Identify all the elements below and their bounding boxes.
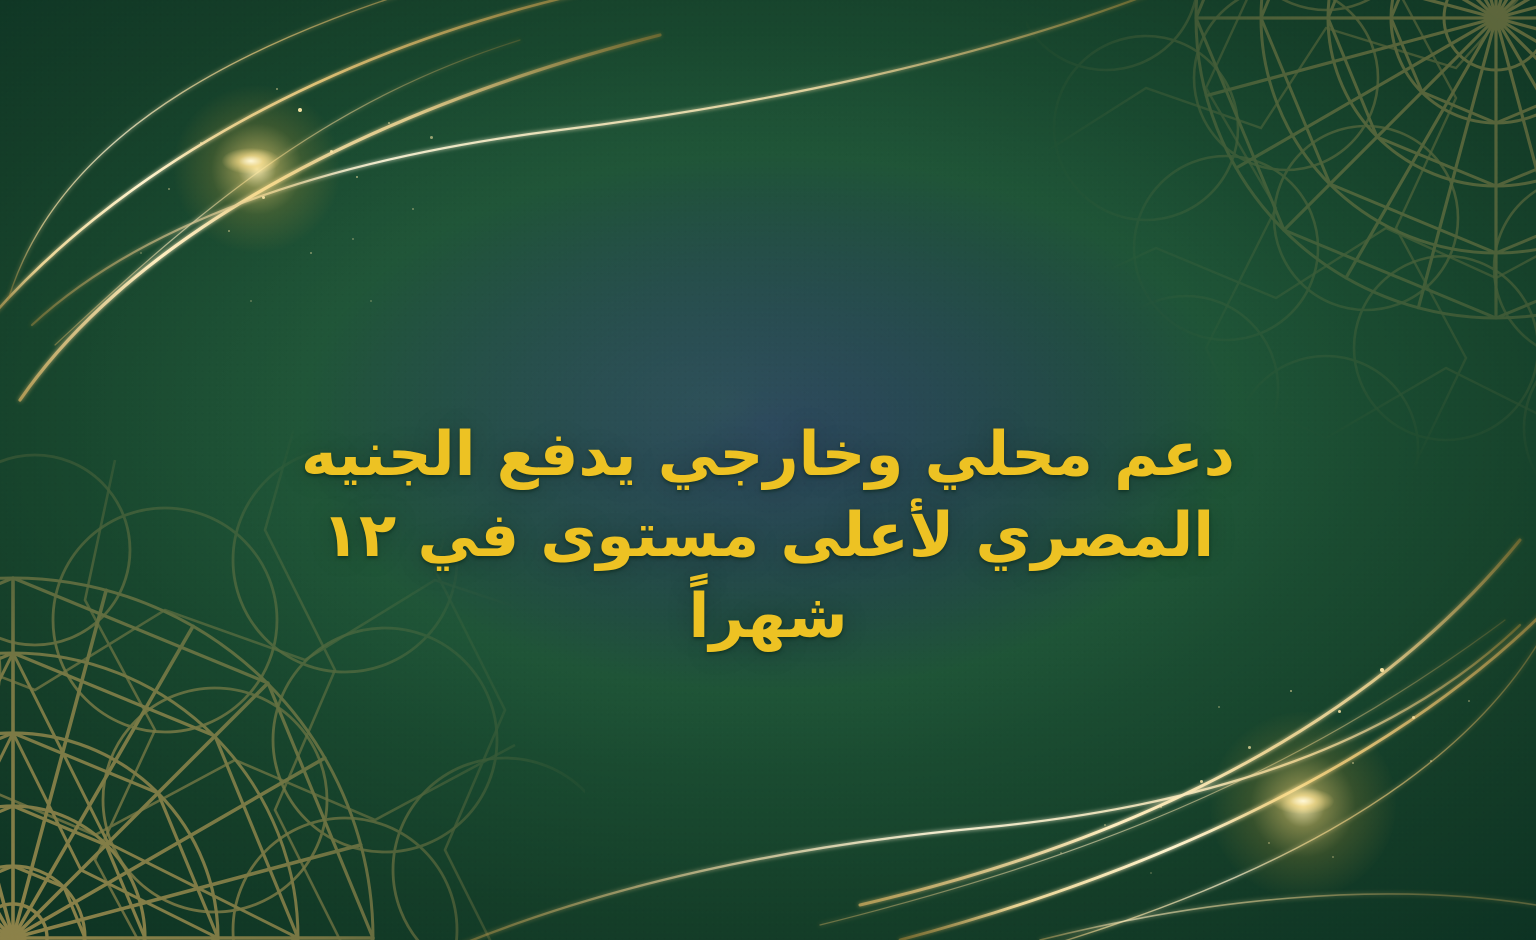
headline-block: دعم محلي وخارجي يدفع الجنيه المصري لأعلى… bbox=[0, 414, 1536, 657]
banner-canvas: دعم محلي وخارجي يدفع الجنيه المصري لأعلى… bbox=[0, 0, 1536, 940]
page-title: دعم محلي وخارجي يدفع الجنيه المصري لأعلى… bbox=[263, 414, 1273, 657]
